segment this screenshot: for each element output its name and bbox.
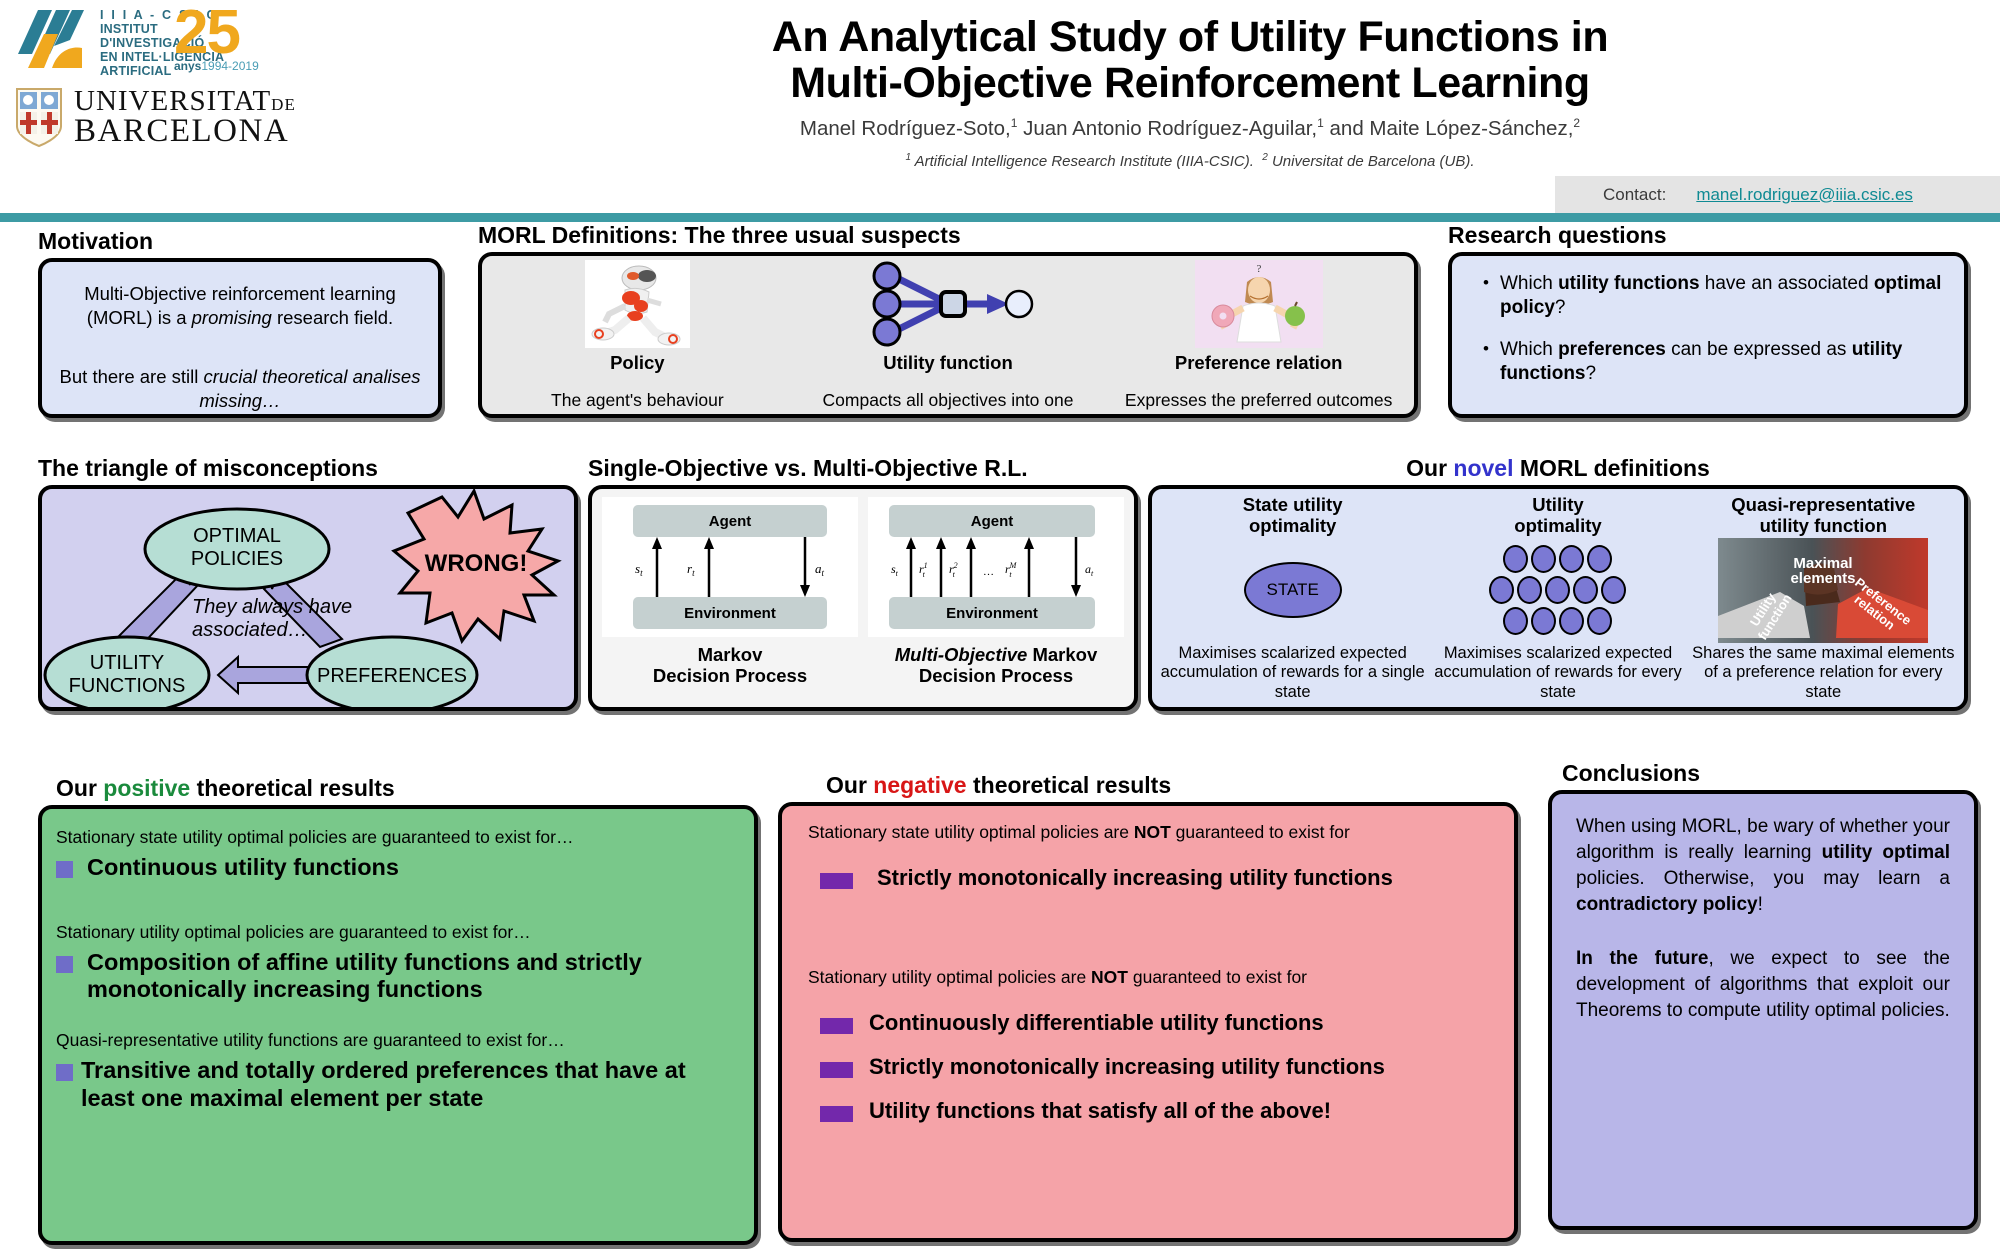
research-question-text: Which utility functions have an associat… — [1500, 272, 1946, 320]
negative-bullet-item: Strictly monotonically increasing utilit… — [798, 865, 1494, 891]
research-questions-panel: • Which utility functions have an associ… — [1448, 252, 1968, 418]
utility-function-label: Utility function — [883, 352, 1012, 374]
state-ellipse: STATE — [1244, 562, 1342, 618]
negative-lead-2: Stationary utility optimal policies are … — [798, 967, 1494, 988]
policy-label: Policy — [610, 352, 665, 374]
motivation-panel: Multi-Objective reinforcement learning (… — [38, 258, 442, 418]
single-vs-multi-title: Single-Objective vs. Multi-Objective R.L… — [588, 455, 1138, 482]
mdp-environment-label: Environment — [684, 605, 776, 622]
negative-bullet-text: Strictly monotonically increasing utilit… — [853, 1054, 1385, 1080]
triangle-node-utility-l2: FUNCTIONS — [69, 675, 186, 697]
negative-bullet-item: Strictly monotonically increasing utilit… — [798, 1054, 1494, 1080]
title-block: An Analytical Study of Utility Functions… — [380, 14, 2000, 170]
positive-lead-1: Stationary state utility optimal policie… — [56, 827, 736, 848]
positive-bullet-text: Continuous utility functions — [73, 854, 399, 882]
conclusions-title: Conclusions — [1548, 760, 1978, 787]
state-dot — [1531, 607, 1556, 635]
state-dot — [1503, 607, 1528, 635]
square-bullet-icon — [56, 956, 73, 973]
anniversary-range: 1994-2019 — [201, 59, 258, 73]
research-question-text: Which preferences can be expressed as ut… — [1500, 338, 1946, 386]
square-bullet-icon — [56, 861, 73, 878]
research-question-item: • Which utility functions have an associ… — [1472, 272, 1946, 320]
state-utility-heading: State utility optimality — [1243, 495, 1343, 536]
preference-image-wrap: ? — [1195, 260, 1323, 348]
mdp-agent-label: Agent — [709, 513, 752, 530]
iiia-logo-mark — [14, 6, 92, 76]
novel-column-quasi-representative: Quasi-representative utility function — [1691, 495, 1956, 707]
quasi-representative-heading: Quasi-representative utility function — [1731, 495, 1915, 536]
motivation-section: Motivation Multi-Objective reinforcement… — [38, 228, 442, 418]
state-dot — [1587, 545, 1612, 573]
iiia-csic-logo: I I I A - C S I C INSTITUT D'INVESTIGACI… — [14, 6, 374, 78]
triangle-title: The triangle of misconceptions — [38, 455, 578, 482]
contact-bar: Contact: manel.rodriguez@iiia.csic.es — [1555, 176, 2000, 213]
mdp-arrow-label-reward: rt — [687, 561, 695, 578]
arm-wrestling-meme-icon: Maximal elements Utility function Prefer… — [1718, 538, 1928, 643]
dot-row — [1503, 607, 1612, 635]
dot-grid-wrap — [1489, 536, 1626, 643]
conclusions-paragraph-1: When using MORL, be wary of whether your… — [1576, 814, 1950, 918]
research-question-item: • Which preferences can be expressed as … — [1472, 338, 1946, 386]
negative-bullet-item: Continuously differentiable utility func… — [798, 1010, 1494, 1036]
rect-bullet-icon — [820, 1062, 853, 1078]
rect-bullet-icon — [820, 1018, 853, 1034]
negative-results-title: Our negative theoretical results — [778, 772, 1518, 799]
momdp-arrow-label-rM: rMt — [1005, 561, 1018, 579]
square-bullet-icon — [56, 1064, 73, 1081]
negative-bullet-text: Utility functions that satisfy all of th… — [853, 1098, 1331, 1124]
single-vs-multi-panel: Agent Environment st rt at Markov Decisi… — [588, 485, 1138, 711]
bullet-icon: • — [1472, 338, 1500, 386]
utility-function-image-wrap — [861, 260, 1036, 348]
positive-results-title: Our positive theoretical results — [38, 775, 758, 802]
novel-column-utility-optimality: Utility optimality Maximises scalarized … — [1425, 495, 1690, 707]
universitat-barcelona-logo: UNIVERSITATDE BARCELONA — [14, 86, 374, 148]
utility-optimality-heading: Utility optimality — [1514, 495, 1601, 536]
positive-bullet-item: Transitive and totally ordered preferenc… — [56, 1057, 736, 1112]
poster-title-line-1: An Analytical Study of Utility Functions… — [600, 14, 1780, 60]
meme-label-top2: elements — [1791, 570, 1856, 587]
header-divider-bar — [0, 213, 2000, 222]
utility-function-description: Compacts all objectives into one — [823, 390, 1074, 411]
definition-column-utility-function: Utility function Compacts all objectives… — [793, 256, 1104, 414]
state-dot-grid — [1489, 545, 1626, 635]
anniversary-word: anys — [174, 59, 201, 73]
poster-title: An Analytical Study of Utility Functions… — [600, 14, 1780, 106]
single-vs-multi-objective-section: Single-Objective vs. Multi-Objective R.L… — [588, 455, 1138, 711]
positive-lead-3: Quasi-representative utility functions a… — [56, 1030, 736, 1051]
state-dot — [1587, 607, 1612, 635]
mdp-arrow-label-state: st — [635, 561, 643, 578]
quasi-representative-description: Shares the same maximal elements of a pr… — [1691, 644, 1956, 707]
positive-bullet-item: Continuous utility functions — [56, 854, 736, 882]
conclusions-panel: When using MORL, be wary of whether your… — [1548, 790, 1978, 1230]
contact-label: Contact: — [1603, 185, 1666, 205]
mdp-left-caption: Markov Decision Process — [653, 645, 807, 686]
negative-bullet-text: Strictly monotonically increasing utilit… — [853, 865, 1393, 891]
preference-relation-label: Preference relation — [1175, 352, 1343, 374]
dot-row — [1489, 576, 1626, 604]
triangle-node-optimal-l1: OPTIMAL — [193, 525, 281, 547]
ub-line-1: UNIVERSITATDE — [74, 87, 296, 115]
anniversary-number: 25 — [174, 6, 259, 61]
negative-results-panel: Stationary state utility optimal policie… — [778, 802, 1518, 1242]
poster-header: I I I A - C S I C INSTITUT D'INVESTIGACI… — [0, 0, 2000, 222]
robot-icon — [585, 260, 690, 348]
bullet-icon: • — [1472, 272, 1500, 320]
anniversary-badge: 25 anys1994-2019 — [174, 6, 259, 73]
contact-email-link[interactable]: manel.rodriguez@iiia.csic.es — [1696, 185, 1913, 205]
negative-results-section: Our negative theoretical results Station… — [778, 772, 1518, 1242]
preference-relation-description: Expresses the preferred outcomes — [1125, 390, 1393, 411]
author-list: Manel Rodríguez-Soto,1 Juan Antonio Rodr… — [380, 116, 2000, 141]
momdp-arrow-label-action: at — [1085, 562, 1094, 578]
positive-bullet-text: Composition of affine utility functions … — [73, 949, 736, 1004]
dot-row — [1503, 545, 1612, 573]
utility-optimality-description: Maximises scalarized expected accumulati… — [1425, 644, 1690, 707]
state-graphic-wrap: STATE — [1244, 536, 1342, 643]
poster-title-line-2: Multi-Objective Reinforcement Learning — [600, 60, 1780, 106]
state-dot — [1559, 545, 1584, 573]
morl-definitions-panel: Policy The agent's behaviour — [478, 252, 1418, 418]
negative-bullet-item: Utility functions that satisfy all of th… — [798, 1098, 1494, 1124]
mdp-right-caption: Multi-Objective Markov Decision Process — [895, 645, 1098, 686]
novel-definitions-panel: State utility optimality STATE Maximises… — [1148, 485, 1968, 711]
positive-results-section: Our positive theoretical results Station… — [38, 775, 758, 1245]
mdp-left: Agent Environment st rt at Markov Decisi… — [602, 497, 858, 699]
mdp-diagram-multi: Agent Environment st r1t r2t … — [868, 497, 1124, 637]
conclusions-section: Conclusions When using MORL, be wary of … — [1548, 760, 1978, 1230]
policy-description: The agent's behaviour — [551, 390, 724, 411]
novel-column-state-utility: State utility optimality STATE Maximises… — [1160, 495, 1425, 707]
state-dot — [1559, 607, 1584, 635]
research-questions-section: Research questions • Which utility funct… — [1448, 222, 1968, 418]
mdp-right: Agent Environment st r1t r2t … — [868, 497, 1124, 699]
svg-text:?: ? — [1256, 263, 1261, 275]
momdp-environment-label: Environment — [946, 605, 1038, 622]
triangle-wrong-stamp: WRONG! — [425, 550, 528, 577]
research-questions-title: Research questions — [1448, 222, 1968, 249]
positive-lead-2: Stationary utility optimal policies are … — [56, 922, 736, 943]
anniversary-years: anys1994-2019 — [174, 59, 259, 73]
triangle-panel: OPTIMAL POLICIES UTILITY FUNCTIONS PREFE… — [38, 485, 578, 711]
conclusions-paragraph-2: In the future, we expect to see the deve… — [1576, 946, 1950, 1024]
rect-bullet-icon — [820, 873, 853, 889]
triangle-node-utility-l1: UTILITY — [90, 652, 164, 674]
state-dot — [1489, 576, 1514, 604]
meme-wrap: Maximal elements Utility function Prefer… — [1718, 536, 1928, 643]
state-utility-description: Maximises scalarized expected accumulati… — [1160, 644, 1425, 707]
definition-column-preference-relation: ? Preference relation Expresses th — [1103, 256, 1414, 414]
positive-bullet-text: Transitive and totally ordered preferenc… — [73, 1057, 736, 1112]
motivation-title: Motivation — [38, 228, 442, 255]
negative-lead-1: Stationary state utility optimal policie… — [798, 822, 1494, 843]
motivation-paragraph-2: But there are still crucial theoretical … — [58, 365, 422, 414]
mdp-diagram-single: Agent Environment st rt at — [602, 497, 858, 637]
triangle-caption-l1: They always have — [192, 596, 352, 618]
positive-results-panel: Stationary state utility optimal policie… — [38, 805, 758, 1245]
motivation-paragraph-1: Multi-Objective reinforcement learning (… — [58, 282, 422, 331]
morl-definitions-title: MORL Definitions: The three usual suspec… — [478, 222, 1418, 249]
policy-image-wrap — [585, 260, 690, 348]
logo-group: I I I A - C S I C INSTITUT D'INVESTIGACI… — [14, 6, 374, 148]
triangle-node-preferences: PREFERENCES — [317, 665, 467, 687]
ub-line-2: BARCELONA — [74, 115, 296, 147]
morl-definitions-section: MORL Definitions: The three usual suspec… — [478, 222, 1418, 418]
momdp-arrow-label-r2: r2t — [949, 561, 958, 579]
negative-bullet-text: Continuously differentiable utility func… — [853, 1010, 1324, 1036]
ub-logo-text: UNIVERSITATDE BARCELONA — [74, 87, 296, 148]
novel-definitions-title: Our novel MORL definitions — [1148, 455, 1968, 482]
momdp-arrow-label-r1: r1t — [919, 561, 928, 579]
positive-bullet-item: Composition of affine utility functions … — [56, 949, 736, 1004]
state-dot — [1517, 576, 1542, 604]
state-dot — [1503, 545, 1528, 573]
ub-shield-icon — [14, 86, 64, 148]
affiliation-line: 1 Artificial Intelligence Research Insti… — [380, 152, 2000, 170]
state-dot — [1601, 576, 1626, 604]
definition-column-policy: Policy The agent's behaviour — [482, 256, 793, 414]
momdp-arrow-label-ellipsis: … — [983, 566, 994, 578]
utility-function-diagram-icon — [861, 260, 1036, 348]
rect-bullet-icon — [820, 1106, 853, 1122]
state-dot — [1531, 545, 1556, 573]
triangle-node-optimal-l2: POLICIES — [191, 548, 283, 570]
preference-choice-icon: ? — [1195, 260, 1323, 348]
state-dot — [1573, 576, 1598, 604]
novel-definitions-section: Our novel MORL definitions State utility… — [1148, 455, 1968, 711]
triangle-caption-l2: associated… — [192, 619, 308, 641]
triangle-diagram: OPTIMAL POLICIES UTILITY FUNCTIONS PREFE… — [42, 489, 574, 707]
triangle-of-misconceptions-section: The triangle of misconceptions OPTIMAL P… — [38, 455, 578, 711]
momdp-agent-label: Agent — [971, 513, 1014, 530]
mdp-arrow-label-action: at — [815, 561, 825, 578]
state-dot — [1545, 576, 1570, 604]
momdp-arrow-label-state: st — [891, 562, 899, 578]
